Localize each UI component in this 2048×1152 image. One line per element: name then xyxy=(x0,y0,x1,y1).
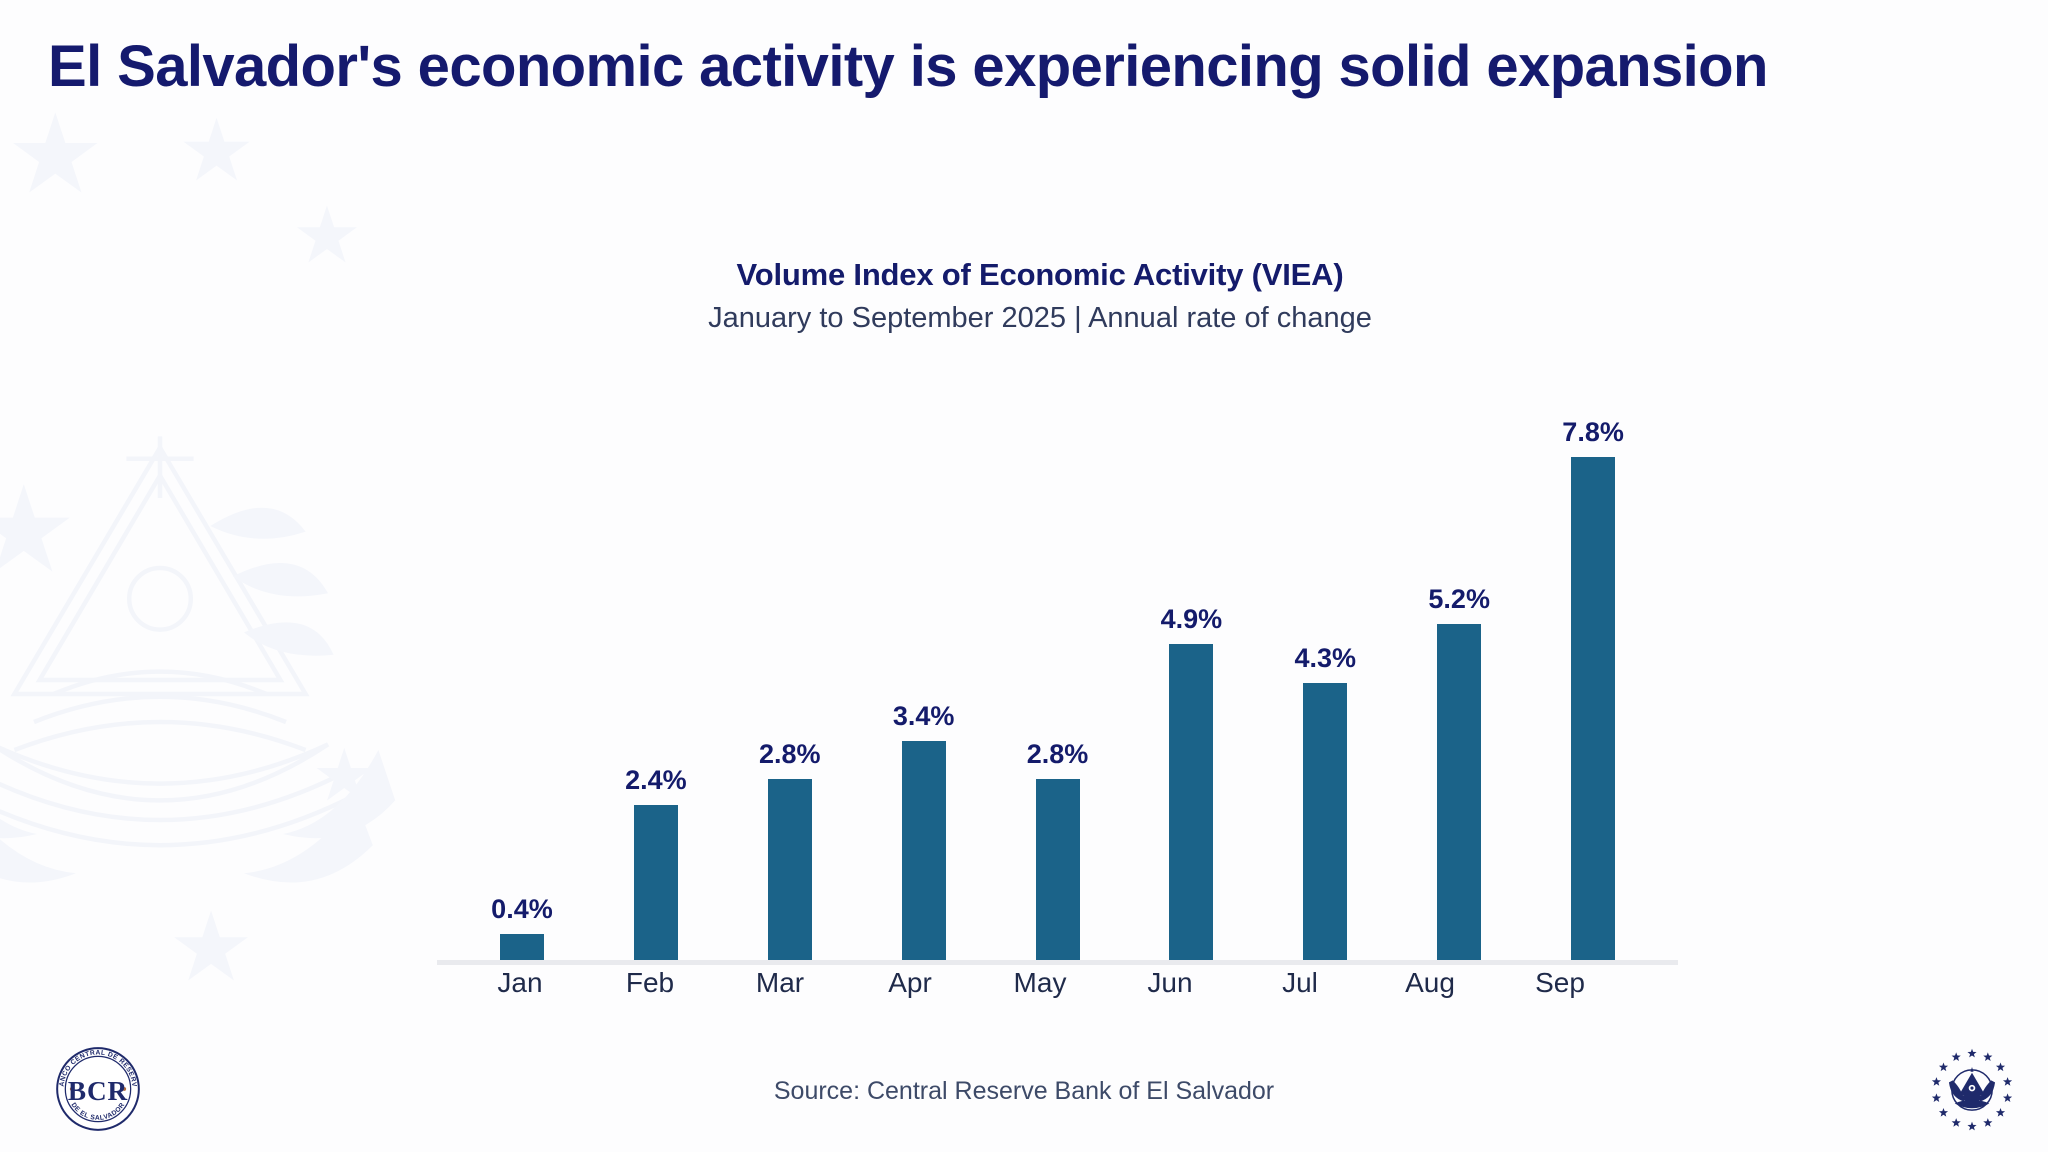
bar-slot: 4.3% xyxy=(1258,405,1392,960)
x-axis-tick-label: Jul xyxy=(1235,967,1365,999)
bar[interactable] xyxy=(902,741,946,960)
bar-series: 0.4%2.4%2.8%3.4%2.8%4.9%4.3%5.2%7.8% xyxy=(455,405,1660,960)
coat-of-arms-star-icon xyxy=(2003,1093,2012,1102)
coat-of-arms-watermark xyxy=(0,330,440,890)
coat-of-arms-star-icon xyxy=(1939,1108,1948,1117)
bar-slot: 4.9% xyxy=(1124,405,1258,960)
bar[interactable] xyxy=(634,805,678,960)
bar-value-label: 3.4% xyxy=(893,701,955,732)
x-axis-tick-label: Aug xyxy=(1365,967,1495,999)
coat-of-arms-star-icon xyxy=(1952,1052,1961,1061)
bar-slot: 0.4% xyxy=(455,405,589,960)
el-salvador-coat-of-arms-logo xyxy=(1922,1042,2022,1138)
bar[interactable] xyxy=(768,779,812,960)
coat-of-arms-star-icon xyxy=(1967,1049,1976,1058)
coat-of-arms-star-icon xyxy=(1952,1118,1961,1127)
x-axis-tick-label: Sep xyxy=(1495,967,1625,999)
star-watermark: ★ xyxy=(168,900,254,996)
coat-of-arms-star-icon xyxy=(1932,1077,1941,1086)
bar-value-label: 2.4% xyxy=(625,765,687,796)
coat-of-arms-star-icon xyxy=(1983,1052,1992,1061)
chart-title: Volume Index of Economic Activity (VIEA) xyxy=(380,255,1700,295)
coat-of-arms-star-icon xyxy=(1983,1118,1992,1127)
bar-slot: 2.4% xyxy=(589,405,723,960)
coat-of-arms-star-icon xyxy=(1996,1062,2005,1071)
plot-area: 0.4%2.4%2.8%3.4%2.8%4.9%4.3%5.2%7.8% xyxy=(455,405,1660,960)
bar[interactable] xyxy=(500,934,544,960)
coat-of-arms-star-icon xyxy=(1967,1122,1976,1131)
bar[interactable] xyxy=(1036,779,1080,960)
bar-value-label: 4.3% xyxy=(1295,643,1357,674)
bar-value-label: 2.8% xyxy=(759,739,821,770)
bar-value-label: 4.9% xyxy=(1161,604,1223,635)
star-watermark: ★ xyxy=(0,470,78,590)
svg-text:BCR: BCR xyxy=(68,1076,128,1106)
bar-value-label: 7.8% xyxy=(1562,417,1624,448)
x-axis-tick-label: Jun xyxy=(1105,967,1235,999)
bar[interactable] xyxy=(1437,624,1481,960)
chart-container: Volume Index of Economic Activity (VIEA)… xyxy=(380,255,1700,1055)
bar-slot: 7.8% xyxy=(1526,405,1660,960)
coat-of-arms-star-icon xyxy=(2003,1077,2012,1086)
x-axis-tick-label: Apr xyxy=(845,967,975,999)
bar-slot: 2.8% xyxy=(723,405,857,960)
star-watermark: ★ xyxy=(292,196,362,274)
bcr-logo: BCR BANCO CENTRAL DE RESERVA DE EL SALVA… xyxy=(42,1040,154,1138)
source-note: Source: Central Reserve Bank of El Salva… xyxy=(0,1077,2048,1106)
bar-slot: 2.8% xyxy=(991,405,1125,960)
star-watermark: ★ xyxy=(6,100,105,210)
x-axis-tick-label: Feb xyxy=(585,967,715,999)
bar-slot: 3.4% xyxy=(857,405,991,960)
bar[interactable] xyxy=(1571,457,1615,960)
x-axis-tick-label: Mar xyxy=(715,967,845,999)
bar-value-label: 5.2% xyxy=(1428,584,1490,615)
bar[interactable] xyxy=(1169,644,1213,960)
star-watermark: ★ xyxy=(178,108,255,194)
coat-of-arms-star-icon xyxy=(1932,1093,1941,1102)
coat-of-arms-star-icon xyxy=(1939,1062,1948,1071)
star-watermark: ★ xyxy=(312,740,377,812)
bar-value-label: 2.8% xyxy=(1027,739,1089,770)
x-axis-tick-label: May xyxy=(975,967,1105,999)
bar-value-label: 0.4% xyxy=(491,894,553,925)
x-axis-tick-labels: JanFebMarAprMayJunJulAugSep xyxy=(380,967,1700,999)
bar[interactable] xyxy=(1303,683,1347,961)
x-axis-line xyxy=(437,960,1678,965)
x-axis-tick-label: Jan xyxy=(455,967,585,999)
chart-subtitle: January to September 2025 | Annual rate … xyxy=(380,300,1700,338)
page-title: El Salvador's economic activity is exper… xyxy=(48,33,2008,100)
coat-of-arms-star-icon xyxy=(1996,1108,2005,1117)
slide-canvas: ★ ★ ★ ★ ★ ★ ★ El Salvador's economic act… xyxy=(0,0,2048,1152)
bar-slot: 5.2% xyxy=(1392,405,1526,960)
